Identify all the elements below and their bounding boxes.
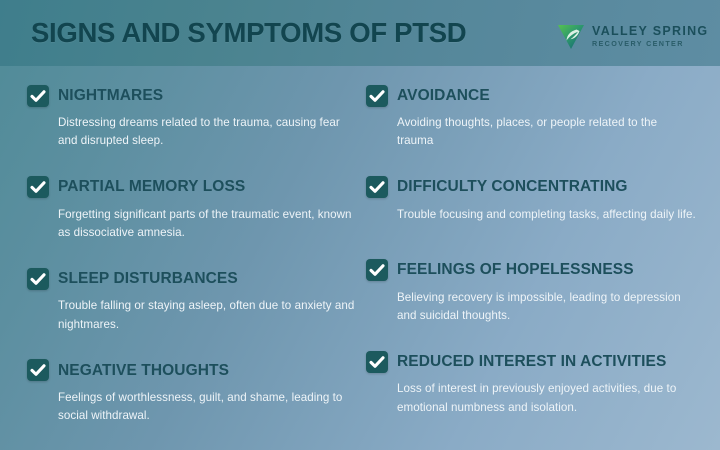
symptom-description: Believing recovery is impossible, leadin… — [397, 289, 696, 326]
symptom-title: FEELINGS OF HOPELESSNESS — [397, 262, 634, 278]
symptom-description: Distressing dreams related to the trauma… — [58, 114, 357, 151]
brand-name: VALLEY SPRING — [592, 25, 708, 38]
symptom-item: DIFFICULTY CONCENTRATING Trouble focusin… — [366, 176, 696, 234]
symptom-heading: FEELINGS OF HOPELESSNESS — [366, 259, 696, 282]
symptom-description: Trouble focusing and completing tasks, a… — [397, 206, 696, 224]
symptom-heading: REDUCED INTEREST IN ACTIVITIES — [366, 350, 696, 373]
checkbox-checked-icon — [27, 359, 49, 381]
symptoms-column-right: AVOIDANCE Avoiding thoughts, places, or … — [366, 84, 696, 442]
symptoms-column-left: NIGHTMARES Distressing dreams related to… — [27, 84, 357, 450]
symptom-title: AVOIDANCE — [397, 88, 490, 104]
checkbox-checked-icon — [27, 268, 49, 290]
symptom-title: NIGHTMARES — [58, 88, 163, 104]
page-title: SIGNS AND SYMPTOMS OF PTSD — [31, 19, 466, 47]
symptom-item: REDUCED INTEREST IN ACTIVITIES Loss of i… — [366, 350, 696, 417]
symptom-heading: NIGHTMARES — [27, 84, 357, 107]
header-band: SIGNS AND SYMPTOMS OF PTSD VALLE — [0, 0, 720, 66]
symptom-title: NEGATIVE THOUGHTS — [58, 363, 229, 379]
checkbox-checked-icon — [27, 176, 49, 198]
brand-logo: VALLEY SPRING RECOVERY CENTER — [556, 19, 704, 53]
symptom-item: SLEEP DISTURBANCES Trouble falling or st… — [27, 267, 357, 334]
symptom-item: NIGHTMARES Distressing dreams related to… — [27, 84, 357, 151]
symptom-item: FEELINGS OF HOPELESSNESS Believing recov… — [366, 259, 696, 326]
symptom-title: REDUCED INTEREST IN ACTIVITIES — [397, 354, 666, 370]
symptom-title: PARTIAL MEMORY LOSS — [58, 179, 245, 195]
checkbox-checked-icon — [366, 176, 388, 198]
symptom-description: Feelings of worthlessness, guilt, and sh… — [58, 389, 357, 426]
symptom-description: Trouble falling or staying asleep, often… — [58, 297, 357, 334]
checkbox-checked-icon — [366, 259, 388, 281]
symptom-heading: SLEEP DISTURBANCES — [27, 267, 357, 290]
checkbox-checked-icon — [366, 351, 388, 373]
symptom-item: NEGATIVE THOUGHTS Feelings of worthlessn… — [27, 359, 357, 426]
logo-wordmark: VALLEY SPRING RECOVERY CENTER — [592, 25, 708, 48]
symptom-heading: NEGATIVE THOUGHTS — [27, 359, 357, 382]
symptom-item: PARTIAL MEMORY LOSS Forgetting significa… — [27, 176, 357, 243]
symptom-heading: PARTIAL MEMORY LOSS — [27, 176, 357, 199]
symptom-description: Loss of interest in previously enjoyed a… — [397, 380, 696, 417]
checkbox-checked-icon — [366, 85, 388, 107]
symptom-description: Forgetting significant parts of the trau… — [58, 206, 357, 243]
symptom-heading: AVOIDANCE — [366, 84, 696, 107]
ptsd-symptoms-infographic: SIGNS AND SYMPTOMS OF PTSD VALLE — [0, 0, 720, 450]
symptom-title: SLEEP DISTURBANCES — [58, 271, 238, 287]
checkbox-checked-icon — [27, 85, 49, 107]
symptom-description: Avoiding thoughts, places, or people rel… — [397, 114, 696, 151]
symptom-heading: DIFFICULTY CONCENTRATING — [366, 176, 696, 199]
symptom-item: AVOIDANCE Avoiding thoughts, places, or … — [366, 84, 696, 151]
valley-spring-v-shield-icon — [556, 22, 586, 51]
brand-tagline: RECOVERY CENTER — [592, 40, 708, 47]
symptom-title: DIFFICULTY CONCENTRATING — [397, 179, 628, 195]
